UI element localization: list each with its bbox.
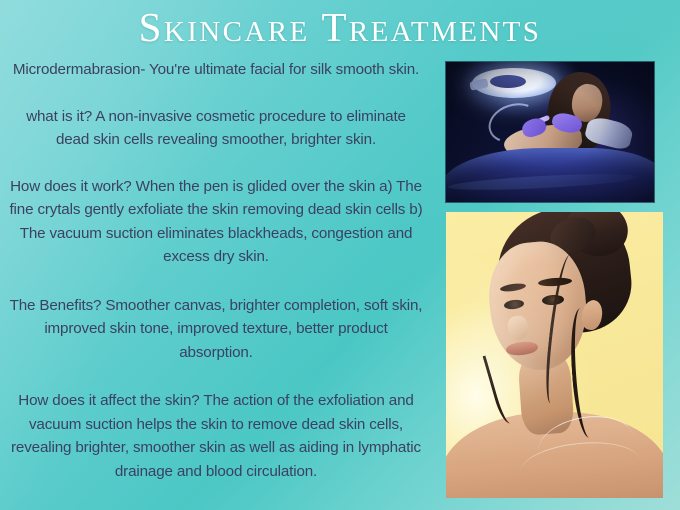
paragraph-benefits: The Benefits? Smoother canvas, brighter … [8,294,424,365]
paragraph-intro: Microdermabrasion- You're ultimate facia… [8,58,424,82]
body-text-column: Microdermabrasion- You're ultimate facia… [0,58,432,483]
page-title: Skincare Treatments [0,2,680,52]
paragraph-skin-effect: How does it affect the skin? The action … [8,389,424,483]
paragraph-how-does-it-work: How does it work? When the pen is glided… [8,175,424,269]
photo-vignette [446,62,654,202]
paragraph-what-is-it: what is it? A non-invasive cosmetic proc… [8,105,424,152]
slide: Skincare Treatments Microdermabrasion- Y… [0,0,680,510]
model-portrait-photo [446,212,663,498]
microdermabrasion-treatment-photo [446,62,654,202]
